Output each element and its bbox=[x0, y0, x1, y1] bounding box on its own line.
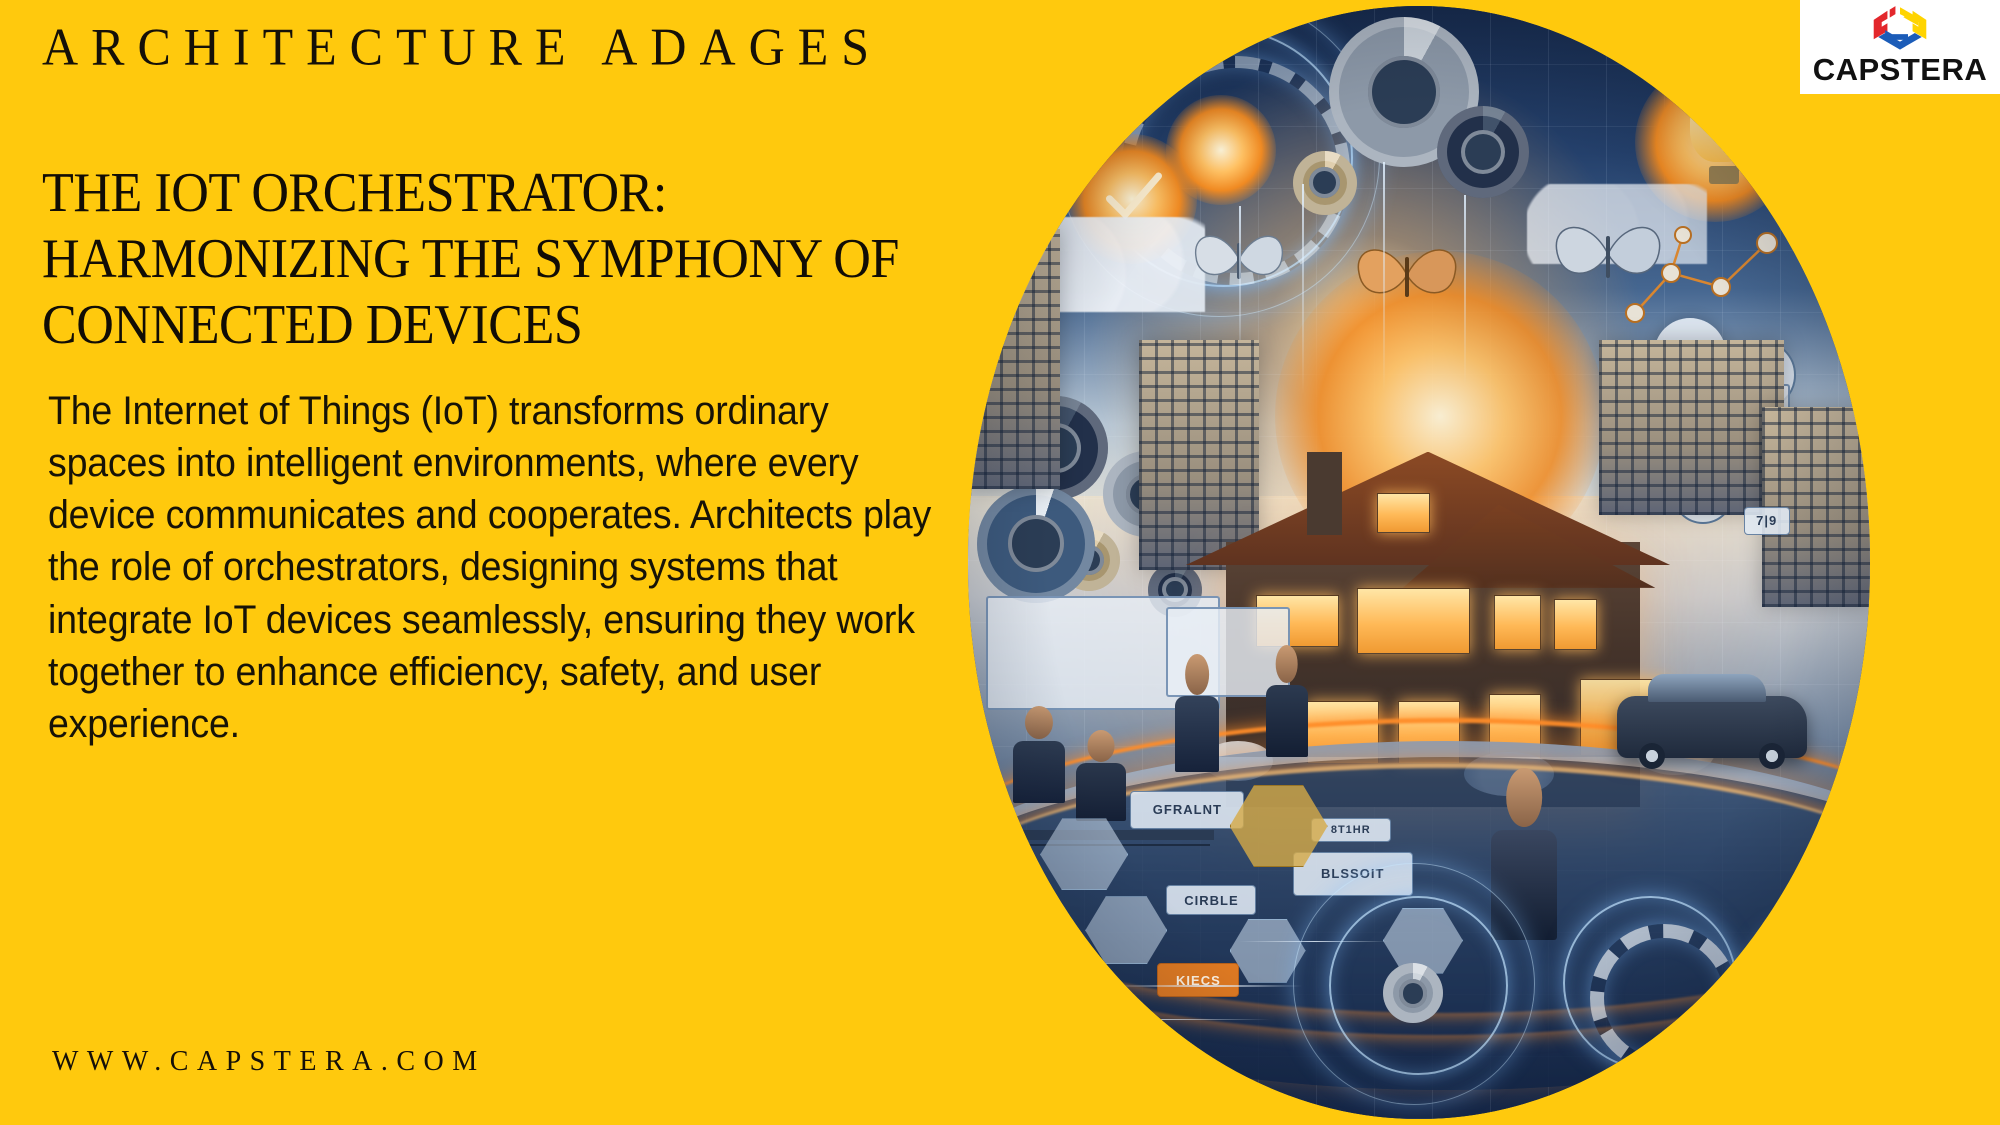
person-standing-2 bbox=[1266, 685, 1308, 757]
connector-line-3 bbox=[1040, 1019, 1270, 1021]
turbine-fan-icon bbox=[977, 485, 1095, 603]
person-seated-2 bbox=[1076, 763, 1126, 821]
light-bulb-base bbox=[1709, 166, 1739, 184]
kicker-heading: ARCHITECTURE ADAGES bbox=[42, 16, 882, 77]
house-window-upper-2 bbox=[1357, 588, 1470, 654]
person-head bbox=[1186, 654, 1210, 695]
person-head bbox=[1506, 768, 1542, 827]
connector-line-1 bbox=[1112, 985, 1302, 987]
label-chip-seven-nine: 7|9 bbox=[1744, 507, 1790, 535]
house-window-attic bbox=[1377, 493, 1430, 533]
title-line-1: THE IOT ORCHESTRATOR: bbox=[42, 160, 879, 226]
label-chip-cirble: CIRBLE bbox=[1166, 885, 1256, 915]
hero-illustration: GFRALNT BLSSOIT CIRBLE KIECS 7|9 8T1HR bbox=[968, 6, 1870, 1119]
person-standing-1 bbox=[1175, 696, 1219, 772]
title-line-3: CONNECTED DEVICES bbox=[42, 292, 879, 358]
label-chip-gfralnt: GFRALNT bbox=[1130, 791, 1244, 829]
connected-car bbox=[1617, 696, 1807, 758]
data-beam-2 bbox=[1302, 184, 1304, 394]
house-window-upper-3 bbox=[1494, 595, 1541, 650]
gear-medium bbox=[1437, 106, 1529, 198]
data-beam-3 bbox=[1383, 162, 1385, 392]
poster-canvas: ARCHITECTURE ADAGES THE IOT ORCHESTRATOR… bbox=[0, 0, 2000, 1125]
skyscraper-left bbox=[968, 229, 1060, 489]
body-paragraph: The Internet of Things (IoT) transforms … bbox=[48, 385, 941, 750]
page-title: THE IOT ORCHESTRATOR: HARMONIZING THE SY… bbox=[42, 160, 879, 358]
hud-dial-bottom-far-right bbox=[1744, 919, 1866, 1041]
hud-dial-bottom-right-ticks bbox=[1590, 924, 1738, 1072]
house-chimney bbox=[1307, 452, 1342, 535]
capstera-cube-logo-icon bbox=[1863, 5, 1937, 53]
house-window-upper-4 bbox=[1554, 599, 1596, 650]
butterfly-center-icon bbox=[1347, 229, 1467, 321]
display-panel bbox=[1166, 607, 1290, 697]
person-head bbox=[1088, 730, 1115, 761]
website-url: WWW.CAPSTERA.COM bbox=[52, 1046, 486, 1078]
data-beam-4 bbox=[1464, 195, 1466, 385]
light-bulb-icon bbox=[1690, 84, 1752, 162]
hud-gear-bottom-center bbox=[1383, 963, 1443, 1023]
person-seated-1 bbox=[1013, 741, 1065, 803]
label-chip-kiecs: KIECS bbox=[1157, 963, 1239, 997]
title-line-2: HARMONIZING THE SYMPHONY OF bbox=[42, 226, 879, 292]
person-head bbox=[1275, 645, 1298, 684]
